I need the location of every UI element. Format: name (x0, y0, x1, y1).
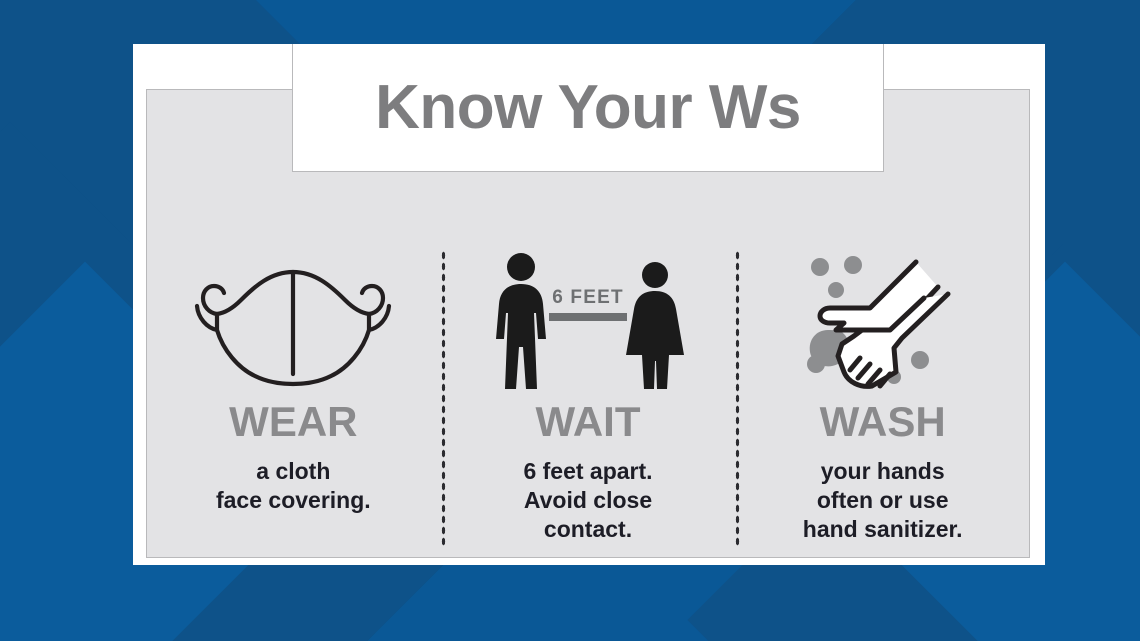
tip-heading-wash: WASH (820, 401, 946, 443)
tip-body-wear: a cloth face covering. (216, 457, 371, 515)
tip-body-line: Avoid close (523, 486, 652, 515)
page-title: Know Your Ws (375, 77, 801, 139)
tip-body-line: your hands (803, 457, 963, 486)
social-distance-icon: 6 FEET (488, 251, 688, 393)
tip-heading-wait: WAIT (536, 401, 641, 443)
social-distance-icon-wrap: 6 FEET (488, 247, 688, 397)
face-mask-icon-wrap (193, 247, 393, 397)
tip-heading-wear: WEAR (229, 401, 357, 443)
face-mask-icon (193, 256, 393, 388)
hand-washing-icon (798, 252, 968, 392)
tip-body-line: often or use (803, 486, 963, 515)
poster-card: Know Your Ws (133, 44, 1045, 565)
tip-body-wash: your hands often or use hand sanitizer. (803, 457, 963, 545)
tip-body-line: 6 feet apart. (523, 457, 652, 486)
distance-label: 6 FEET (552, 287, 624, 308)
tip-body-line: face covering. (216, 486, 371, 515)
title-box: Know Your Ws (292, 44, 884, 172)
hand-washing-icon-wrap (798, 247, 968, 397)
tip-column-wait: 6 FEET WAIT 6 feet apart. Avoid close co… (441, 217, 736, 557)
poster-stage: Know Your Ws (0, 0, 1140, 641)
person-right-icon (626, 262, 684, 389)
tip-column-wash: WASH your hands often or use hand saniti… (735, 217, 1030, 557)
distance-bar (549, 313, 627, 321)
tip-column-wear: WEAR a cloth face covering. (146, 217, 441, 557)
person-left-icon (496, 253, 546, 389)
tip-body-line: a cloth (216, 457, 371, 486)
tip-body-line: contact. (523, 515, 652, 544)
tip-body-wait: 6 feet apart. Avoid close contact. (523, 457, 652, 545)
tips-columns: WEAR a cloth face covering. (146, 217, 1030, 557)
tip-body-line: hand sanitizer. (803, 515, 963, 544)
